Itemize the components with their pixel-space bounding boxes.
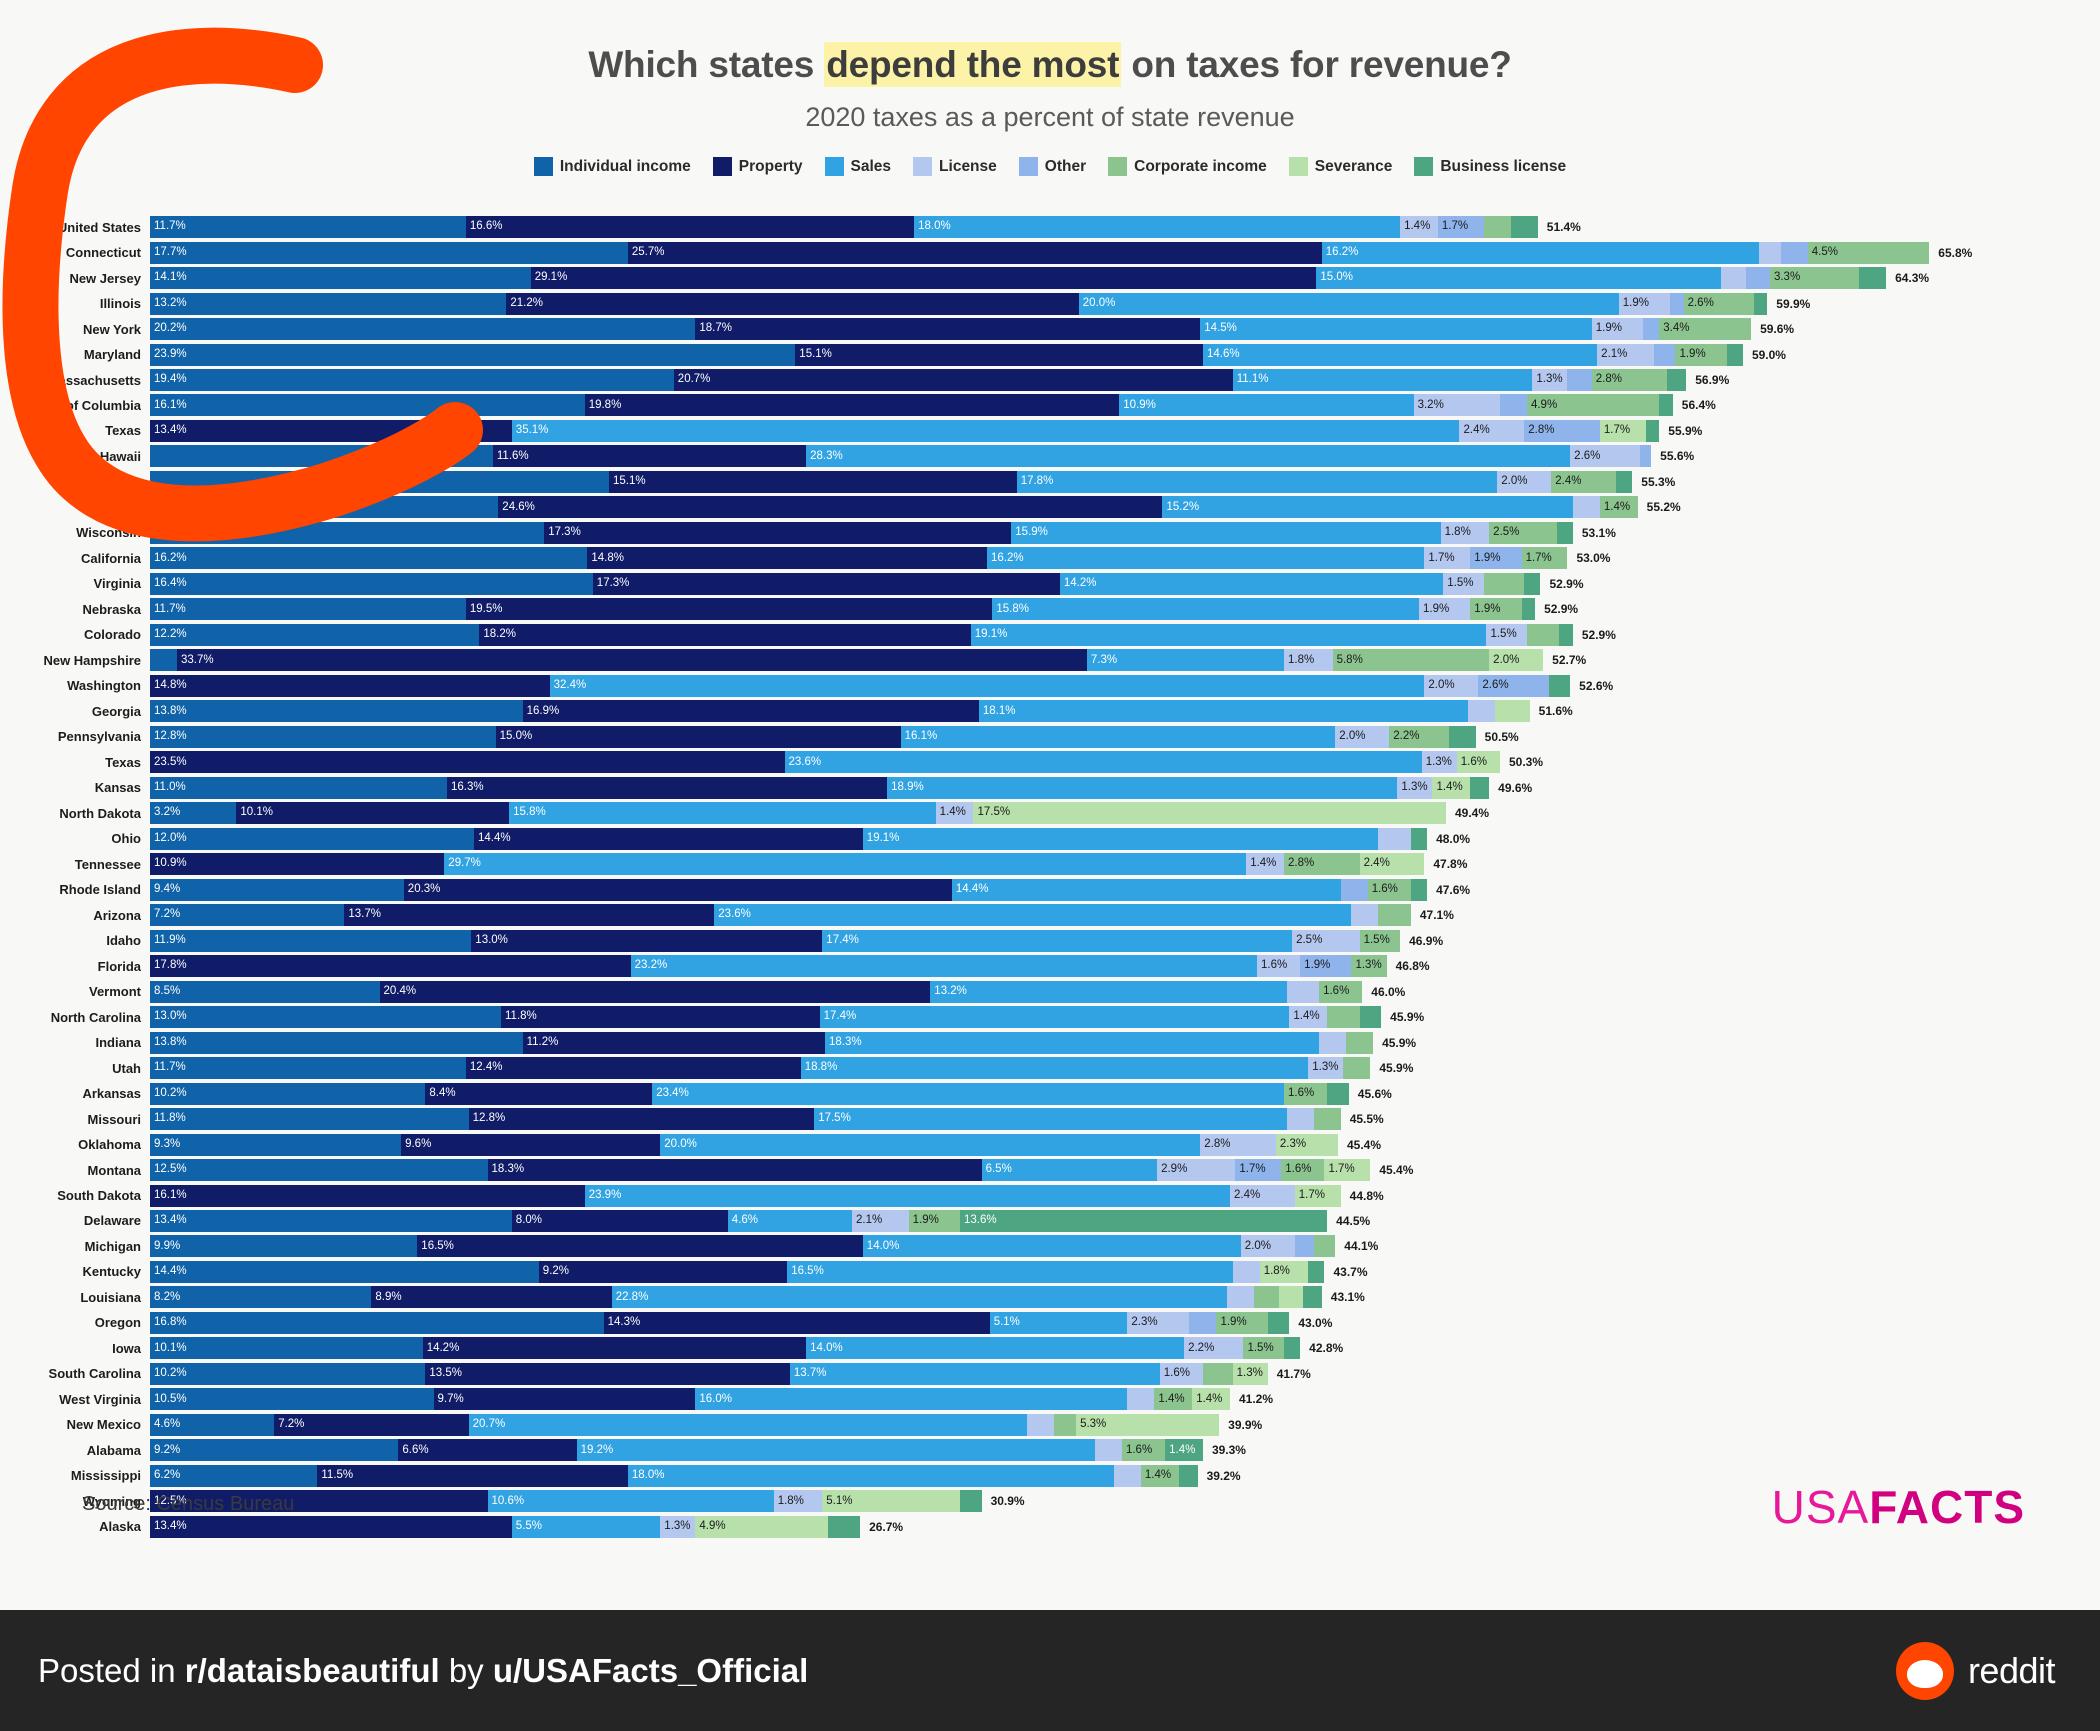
bar-segment-license[interactable] [1721,267,1745,289]
bar-segment-individual-income[interactable]: 14.1% [150,267,531,289]
bar-segment-license[interactable]: 1.6% [1257,955,1300,977]
bar-segment-property[interactable]: 8.0% [512,1210,728,1232]
bar-segment-corporate-income[interactable]: 1.9% [909,1210,960,1232]
bar-segment-property[interactable]: 7.2% [274,1414,468,1436]
bar-segment-business-license[interactable] [960,1490,982,1512]
bar-segment-license[interactable]: 2.4% [1230,1185,1295,1207]
bar-segment-sales[interactable]: 17.8% [1017,471,1498,493]
bar-segment-property[interactable]: 20.3% [404,879,952,901]
chart-row[interactable]: Vermont8.5%20.4%13.2%1.6%46.0% [0,980,2100,1004]
bar-segment-property[interactable]: 14.2% [423,1337,806,1359]
bar-segment-property[interactable]: 9.2% [539,1261,787,1283]
bar-segment-individual-income[interactable]: 16.2% [150,547,587,569]
bar-segment-sales[interactable]: 16.5% [787,1261,1233,1283]
bar-segment-corporate-income[interactable] [1527,624,1559,646]
bar-segment-property[interactable]: 19.5% [466,598,993,620]
bar-segment-severance[interactable]: 2.4% [1360,853,1425,875]
bar-segment-license[interactable]: 2.0% [1497,471,1551,493]
bar-segment-business-license[interactable] [1470,777,1489,799]
bar-segment-license[interactable] [1351,904,1378,926]
bar-segment-property[interactable]: 17.3% [593,573,1060,595]
bar-segment-license[interactable] [1319,1032,1346,1054]
bar-segment-license[interactable]: 1.3% [1532,369,1567,391]
bar-segment-license[interactable]: 1.9% [1619,293,1670,315]
bar-segment-property[interactable]: 12.8% [469,1108,815,1130]
bar-segment-sales[interactable]: 14.2% [1060,573,1443,595]
bar-segment-severance[interactable]: 1.7% [1600,420,1646,442]
chart-row[interactable]: Idaho11.9%13.0%17.4%2.5%1.5%46.9% [0,929,2100,953]
chart-row[interactable]: Indiana13.8%11.2%18.3%45.9% [0,1031,2100,1055]
legend-item-corporate-income[interactable]: Corporate income [1108,157,1267,176]
bar-segment-corporate-income[interactable]: 1.4% [1600,496,1638,518]
bar-segment-business-license[interactable]: 1.4% [1165,1439,1203,1461]
bar-segment-sales[interactable]: 19.1% [971,624,1487,646]
legend-item-sales[interactable]: Sales [825,157,892,176]
bar-segment-individual-income[interactable]: 12.0% [150,828,474,850]
legend-item-property[interactable]: Property [713,157,803,176]
bar-segment-property[interactable]: 16.9% [523,700,979,722]
bar-segment-license[interactable]: 1.5% [1486,624,1527,646]
bar-segment-business-license[interactable] [1667,369,1686,391]
bar-segment-license[interactable]: 1.4% [1400,216,1438,238]
bar-segment-corporate-income[interactable]: 3.3% [1770,267,1859,289]
bar-segment-individual-income[interactable]: 11.8% [150,1108,469,1130]
bar-segment-sales[interactable]: 17.5% [814,1108,1287,1130]
bar-segment-corporate-income[interactable]: 1.6% [1281,1159,1324,1181]
bar-segment-individual-income[interactable]: 4.6% [150,1414,274,1436]
bar-segment-license[interactable]: 2.1% [852,1210,909,1232]
chart-row[interactable]: Arizona7.2%13.7%23.6%47.1% [0,903,2100,927]
chart-row[interactable]: Iowa10.1%14.2%14.0%2.2%1.5%42.8% [0,1336,2100,1360]
bar-segment-corporate-income[interactable]: 2.8% [1592,369,1668,391]
bar-segment-sales[interactable]: 13.2% [930,981,1286,1003]
chart-row[interactable]: Kansas11.0%16.3%18.9%1.3%1.4%49.6% [0,776,2100,800]
bar-segment-property[interactable]: 13.4% [150,420,512,442]
chart-row[interactable]: Connecticut17.7%25.7%16.2%4.5%65.8% [0,240,2100,264]
bar-segment-corporate-income[interactable]: 1.6% [1284,1083,1327,1105]
bar-segment-corporate-income[interactable] [1314,1235,1336,1257]
bar-segment-corporate-income[interactable]: 4.9% [1527,394,1659,416]
bar-segment-sales[interactable]: 10.9% [1119,394,1413,416]
bar-segment-sales[interactable]: 11.1% [1233,369,1533,391]
bar-segment-sales[interactable]: 15.8% [509,802,936,824]
bar-segment-sales[interactable]: 7.3% [1087,649,1284,671]
bar-segment-sales[interactable]: 14.0% [863,1235,1241,1257]
bar-segment-corporate-income[interactable] [1327,1006,1359,1028]
bar-segment-business-license[interactable] [1327,1083,1349,1105]
bar-segment-property[interactable]: 17.8% [150,955,631,977]
bar-segment-license[interactable]: 2.2% [1184,1337,1243,1359]
bar-segment-severance[interactable]: 1.3% [1233,1363,1268,1385]
chart-row[interactable]: Minnesota15.1%17.8%2.0%2.4%55.3% [0,470,2100,494]
bar-segment-individual-income[interactable]: 9.3% [150,1134,401,1156]
bar-segment-sales[interactable]: 23.2% [631,955,1257,977]
bar-segment-individual-income[interactable]: 9.4% [150,879,404,901]
bar-segment-business-license[interactable] [1659,394,1673,416]
chart-row[interactable]: Pennsylvania12.8%15.0%16.1%2.0%2.2%50.5% [0,725,2100,749]
bar-segment-license[interactable] [1287,1108,1314,1130]
bar-segment-license[interactable]: 1.8% [1284,649,1333,671]
bar-segment-corporate-income[interactable] [1203,1363,1233,1385]
bar-segment-sales[interactable]: 10.6% [488,1490,774,1512]
chart-row[interactable]: New Hampshire33.7%7.3%1.8%5.8%2.0%52.7% [0,648,2100,672]
bar-segment-individual-income[interactable]: 9.9% [150,1235,417,1257]
bar-segment-business-license[interactable] [828,1516,860,1538]
bar-segment-sales[interactable]: 23.9% [585,1185,1230,1207]
bar-segment-other[interactable] [1295,1235,1314,1257]
bar-segment-business-license[interactable] [1179,1465,1198,1487]
bar-segment-individual-income[interactable]: 3.2% [150,802,236,824]
bar-segment-business-license[interactable] [1616,471,1632,493]
bar-segment-severance[interactable]: 5.3% [1076,1414,1219,1436]
bar-segment-individual-income[interactable]: 12.5% [150,1159,488,1181]
bar-segment-property[interactable]: 11.5% [317,1465,628,1487]
bar-segment-business-license[interactable] [1549,675,1571,697]
bar-segment-property[interactable]: 8.9% [371,1286,611,1308]
bar-segment-property[interactable]: 14.8% [587,547,987,569]
legend-item-individual-income[interactable]: Individual income [534,157,691,176]
bar-segment-corporate-income[interactable] [1346,1032,1373,1054]
chart-row[interactable]: South Carolina10.2%13.5%13.7%1.6%1.3%41.… [0,1362,2100,1386]
chart-row[interactable]: Kentucky14.4%9.2%16.5%1.8%43.7% [0,1260,2100,1284]
bar-segment-corporate-income[interactable]: 1.3% [1351,955,1386,977]
bar-segment-sales[interactable]: 32.4% [550,675,1425,697]
bar-segment-corporate-income[interactable] [1314,1108,1341,1130]
bar-segment-license[interactable]: 2.0% [1241,1235,1295,1257]
chart-row[interactable]: New Jersey14.1%29.1%15.0%3.3%64.3% [0,266,2100,290]
bar-segment-sales[interactable]: 17.4% [822,930,1292,952]
bar-segment-license[interactable] [1468,700,1495,722]
bar-segment-severance[interactable]: 1.6% [1457,751,1500,773]
bar-segment-sales[interactable]: 15.0% [1316,267,1721,289]
bar-segment-severance[interactable]: 1.4% [1432,777,1470,799]
bar-segment-sales[interactable]: 19.2% [577,1439,1095,1461]
bar-segment-corporate-income[interactable] [1054,1414,1076,1436]
reddit-logo[interactable]: reddit [1896,1642,2055,1700]
bar-segment-individual-income[interactable]: 8.2% [150,1286,371,1308]
bar-segment-other[interactable]: 2.6% [1478,675,1548,697]
chart-row[interactable]: Delaware13.4%8.0%4.6%2.1%1.9%13.6%44.5% [0,1209,2100,1233]
bar-segment-sales[interactable]: 20.7% [469,1414,1028,1436]
chart-row[interactable]: Virginia16.4%17.3%14.2%1.5%52.9% [0,572,2100,596]
bar-segment-property[interactable]: 23.5% [150,751,785,773]
bar-segment-property[interactable]: 18.2% [479,624,970,646]
bar-segment-business-license[interactable] [1284,1337,1300,1359]
bar-segment-sales[interactable]: 6.5% [982,1159,1158,1181]
chart-row[interactable]: Missouri11.8%12.8%17.5%45.5% [0,1107,2100,1131]
bar-segment-sales[interactable]: 18.0% [914,216,1400,238]
bar-segment-property[interactable]: 13.0% [471,930,822,952]
bar-segment-individual-income[interactable] [150,649,177,671]
bar-segment-sales[interactable]: 16.2% [1322,242,1759,264]
bar-segment-other[interactable]: 1.7% [1235,1159,1281,1181]
bar-segment-sales[interactable]: 18.8% [801,1057,1309,1079]
bar-segment-license[interactable]: 1.9% [1419,598,1470,620]
bar-segment-individual-income[interactable]: 13.4% [150,1210,512,1232]
bar-segment-individual-income[interactable]: 19.4% [150,369,674,391]
bar-segment-license[interactable]: 1.3% [1397,777,1432,799]
bar-segment-business-license[interactable] [1303,1286,1322,1308]
bar-segment-property[interactable]: 18.7% [695,318,1200,340]
bar-segment-sales[interactable]: 16.0% [695,1388,1127,1410]
bar-segment-corporate-income[interactable]: 2.4% [1551,471,1616,493]
bar-segment-corporate-income[interactable]: 4.5% [1808,242,1930,264]
bar-segment-property[interactable]: 11.6% [493,445,806,467]
bar-segment-individual-income[interactable] [150,496,498,518]
bar-segment-corporate-income[interactable]: 1.4% [1154,1388,1192,1410]
chart-row[interactable]: Maryland23.9%15.1%14.6%2.1%1.9%59.0% [0,342,2100,366]
bar-segment-property[interactable]: 11.2% [523,1032,825,1054]
bar-segment-sales[interactable]: 18.3% [825,1032,1319,1054]
bar-segment-license[interactable]: 2.0% [1335,726,1389,748]
chart-row[interactable]: Tennessee10.9%29.7%1.4%2.8%2.4%47.8% [0,852,2100,876]
bar-segment-business-license[interactable] [1308,1261,1324,1283]
bar-segment-sales[interactable]: 17.4% [820,1006,1290,1028]
bar-segment-sales[interactable]: 16.2% [987,547,1424,569]
chart-row[interactable]: Texas 23.5%23.6%1.3%1.6%50.3% [0,750,2100,774]
bar-segment-property[interactable]: 13.7% [344,904,714,926]
bar-segment-other[interactable] [1654,344,1676,366]
bar-segment-severance[interactable]: 1.7% [1295,1185,1341,1207]
bar-segment-property[interactable]: 15.1% [795,344,1203,366]
bar-segment-property[interactable]: 33.7% [177,649,1087,671]
bar-segment-business-license[interactable] [1411,828,1427,850]
bar-segment-severance[interactable]: 2.0% [1489,649,1543,671]
bar-segment-sales[interactable]: 5.1% [990,1312,1128,1334]
bar-segment-severance[interactable]: 4.9% [695,1516,827,1538]
bar-segment-property[interactable]: 12.4% [466,1057,801,1079]
bar-segment-property[interactable]: 16.3% [447,777,887,799]
bar-segment-property[interactable]: 10.1% [236,802,509,824]
bar-segment-other[interactable] [1746,267,1770,289]
bar-segment-license[interactable]: 2.9% [1157,1159,1235,1181]
bar-segment-severance[interactable] [1495,700,1530,722]
bar-segment-business-license[interactable] [1449,726,1476,748]
bar-segment-corporate-income[interactable]: 1.5% [1243,1337,1284,1359]
bar-segment-corporate-income[interactable]: 2.8% [1284,853,1360,875]
bar-segment-business-license[interactable]: 13.6% [960,1210,1327,1232]
bar-segment-individual-income[interactable]: 6.2% [150,1465,317,1487]
bar-segment-license[interactable] [1759,242,1781,264]
bar-segment-corporate-income[interactable]: 5.8% [1333,649,1490,671]
bar-segment-individual-income[interactable]: 12.8% [150,726,496,748]
bar-segment-sales[interactable]: 4.6% [728,1210,852,1232]
bar-segment-business-license[interactable] [1511,216,1538,238]
bar-segment-sales[interactable]: 28.3% [806,445,1570,467]
bar-segment-property[interactable]: 6.6% [398,1439,576,1461]
chart-row[interactable]: North Carolina13.0%11.8%17.4%1.4%45.9% [0,1005,2100,1029]
bar-segment-individual-income[interactable]: 11.7% [150,1057,466,1079]
legend-item-license[interactable]: License [913,157,997,176]
bar-segment-property[interactable]: 17.3% [544,522,1011,544]
chart-row[interactable]: Nebraska11.7%19.5%15.8%1.9%1.9%52.9% [0,597,2100,621]
bar-segment-corporate-income[interactable]: 2.2% [1389,726,1448,748]
bar-segment-license[interactable]: 1.4% [1246,853,1284,875]
bar-segment-property[interactable]: 9.6% [401,1134,660,1156]
bar-segment-property[interactable]: 9.7% [434,1388,696,1410]
bar-segment-corporate-income[interactable]: 1.6% [1319,981,1362,1003]
bar-segment-property[interactable]: 24.6% [498,496,1162,518]
chart-row[interactable]: Georgia13.8%16.9%18.1%51.6% [0,699,2100,723]
chart-row[interactable]: Illinois13.2%21.2%20.0%1.9%2.6%59.9% [0,291,2100,315]
bar-segment-license[interactable]: 1.9% [1592,318,1643,340]
chart-row[interactable]: Michigan9.9%16.5%14.0%2.0%44.1% [0,1234,2100,1258]
chart-row[interactable]: Arkansas10.2%8.4%23.4%1.6%45.6% [0,1081,2100,1105]
chart-row[interactable]: Washington14.8%32.4%2.0%2.6%52.6% [0,674,2100,698]
bar-segment-individual-income[interactable]: 13.0% [150,1006,501,1028]
chart-row[interactable]: Ohio12.0%14.4%19.1%48.0% [0,827,2100,851]
bar-segment-individual-income[interactable]: 17.7% [150,242,628,264]
bar-segment-sales[interactable]: 5.5% [512,1516,661,1538]
bar-segment-other[interactable]: 2.8% [1524,420,1600,442]
bar-segment-other[interactable] [1341,879,1368,901]
bar-segment-individual-income[interactable]: 7.2% [150,904,344,926]
bar-segment-property[interactable]: 14.8% [150,675,550,697]
bar-segment-individual-income[interactable]: 12.2% [150,624,479,646]
bar-segment-sales[interactable]: 14.4% [952,879,1341,901]
chart-row[interactable]: Hawaii11.6%28.3%2.6%55.6% [0,444,2100,468]
bar-segment-license[interactable] [1227,1286,1254,1308]
chart-row[interactable]: Alabama9.2%6.6%19.2%1.6%1.4%39.3% [0,1438,2100,1462]
bar-segment-license[interactable] [1233,1261,1260,1283]
bar-segment-sales[interactable]: 14.0% [806,1337,1184,1359]
bar-segment-individual-income[interactable]: 10.5% [150,1388,434,1410]
bar-segment-individual-income[interactable]: 10.2% [150,1083,425,1105]
bar-segment-property[interactable]: 10.9% [150,853,444,875]
bar-segment-license[interactable]: 1.3% [1308,1057,1343,1079]
bar-segment-sales[interactable]: 15.8% [992,598,1419,620]
bar-segment-individual-income[interactable]: 8.5% [150,981,380,1003]
bar-segment-other[interactable]: 1.9% [1300,955,1351,977]
bar-segment-severance[interactable]: 1.8% [1260,1261,1309,1283]
bar-segment-other[interactable] [1640,445,1651,467]
bar-segment-license[interactable]: 1.7% [1424,547,1470,569]
chart-row[interactable]: Massachusetts19.4%20.7%11.1%1.3%2.8%56.9… [0,368,2100,392]
bar-segment-severance[interactable] [1279,1286,1303,1308]
bar-segment-license[interactable]: 1.8% [1441,522,1490,544]
bar-segment-corporate-income[interactable]: 1.9% [1470,598,1521,620]
bar-segment-corporate-income[interactable] [1484,216,1511,238]
chart-row[interactable]: District of Columbia16.1%19.8%10.9%3.2%4… [0,393,2100,417]
chart-row[interactable]: New Mexico4.6%7.2%20.7%5.3%39.9% [0,1413,2100,1437]
chart-row[interactable]: Wisconsin14.6%17.3%15.9%1.8%2.5%53.1% [0,521,2100,545]
bar-segment-individual-income[interactable]: 23.9% [150,344,795,366]
bar-segment-individual-income[interactable] [150,445,493,467]
bar-segment-individual-income[interactable]: 13.8% [150,1032,523,1054]
chart-row[interactable]: Montana12.5%18.3%6.5%2.9%1.7%1.6%1.7%45.… [0,1158,2100,1182]
bar-segment-corporate-income[interactable] [1484,573,1525,595]
bar-segment-individual-income[interactable]: 9.2% [150,1439,398,1461]
bar-segment-license[interactable] [1127,1388,1154,1410]
bar-segment-property[interactable]: 13.5% [425,1363,790,1385]
bar-segment-business-license[interactable] [1268,1312,1290,1334]
bar-segment-sales[interactable]: 23.4% [652,1083,1284,1105]
bar-segment-individual-income[interactable]: 16.1% [150,394,585,416]
bar-segment-other[interactable] [1189,1312,1216,1334]
bar-segment-property[interactable]: 11.8% [501,1006,820,1028]
bar-segment-individual-income[interactable]: 16.8% [150,1312,604,1334]
bar-segment-other[interactable]: 1.9% [1470,547,1521,569]
bar-segment-corporate-income[interactable]: 1.6% [1368,879,1411,901]
bar-segment-corporate-income[interactable]: 1.9% [1675,344,1726,366]
bar-segment-severance[interactable]: 2.3% [1276,1134,1338,1156]
bar-segment-property[interactable]: 15.1% [609,471,1017,493]
bar-segment-property[interactable]: 13.4% [150,1516,512,1538]
bar-segment-sales[interactable]: 14.6% [1203,344,1597,366]
bar-segment-property[interactable]: 14.3% [604,1312,990,1334]
bar-segment-property[interactable]: 19.8% [585,394,1120,416]
bar-segment-license[interactable]: 2.1% [1597,344,1654,366]
legend-item-other[interactable]: Other [1019,157,1086,176]
bar-segment-license[interactable]: 2.3% [1127,1312,1189,1334]
bar-segment-license[interactable]: 1.3% [1422,751,1457,773]
bar-segment-license[interactable]: 1.6% [1160,1363,1203,1385]
chart-row[interactable]: Utah11.7%12.4%18.8%1.3%45.9% [0,1056,2100,1080]
bar-segment-corporate-income[interactable] [1343,1057,1370,1079]
bar-segment-corporate-income[interactable]: 1.4% [1141,1465,1179,1487]
legend-item-severance[interactable]: Severance [1289,157,1393,176]
chart-row[interactable]: New York20.2%18.7%14.5%1.9%3.4%59.6% [0,317,2100,341]
bar-segment-corporate-income[interactable] [1254,1286,1278,1308]
bar-segment-other[interactable] [1670,293,1684,315]
bar-segment-corporate-income[interactable]: 1.7% [1522,547,1568,569]
bar-segment-severance[interactable]: 17.5% [973,802,1446,824]
bar-segment-property[interactable]: 14.4% [474,828,863,850]
bar-segment-corporate-income[interactable]: 1.9% [1216,1312,1267,1334]
bar-segment-individual-income[interactable]: 14.6% [150,522,544,544]
chart-row[interactable]: South Dakota16.1%23.9%2.4%1.7%44.8% [0,1183,2100,1207]
bar-segment-sales[interactable]: 18.0% [628,1465,1114,1487]
bar-segment-sales[interactable]: 15.9% [1011,522,1440,544]
chart-row[interactable]: Rhode Island9.4%20.3%14.4%1.6%47.6% [0,878,2100,902]
bar-segment-license[interactable]: 2.0% [1424,675,1478,697]
bar-segment-property[interactable]: 15.0% [496,726,901,748]
bar-segment-sales[interactable]: 15.2% [1162,496,1572,518]
bar-segment-other[interactable] [1567,369,1591,391]
bar-segment-individual-income[interactable]: 10.2% [150,1363,425,1385]
bar-segment-business-license[interactable] [1524,573,1540,595]
chart-row[interactable]: Louisiana8.2%8.9%22.8%43.1% [0,1285,2100,1309]
bar-segment-business-license[interactable] [1859,267,1886,289]
bar-segment-corporate-income[interactable]: 3.4% [1659,318,1751,340]
bar-segment-license[interactable] [1027,1414,1054,1436]
bar-segment-sales[interactable]: 19.1% [863,828,1379,850]
chart-row[interactable]: West Virginia10.5%9.7%16.0%1.4%1.4%41.2% [0,1387,2100,1411]
bar-segment-business-license[interactable] [1411,879,1427,901]
bar-segment-sales[interactable]: 20.0% [1079,293,1619,315]
chart-row[interactable]: Oklahoma9.3%9.6%20.0%2.8%2.3%45.4% [0,1132,2100,1156]
bar-segment-license[interactable]: 2.6% [1570,445,1640,467]
bar-segment-sales[interactable]: 14.5% [1200,318,1592,340]
bar-segment-individual-income[interactable]: 11.9% [150,930,471,952]
bar-segment-sales[interactable]: 22.8% [612,1286,1228,1308]
chart-row[interactable]: Oregon16.8%14.3%5.1%2.3%1.9%43.0% [0,1311,2100,1335]
bar-segment-sales[interactable]: 13.7% [790,1363,1160,1385]
bar-segment-license[interactable]: 1.4% [936,802,974,824]
bar-segment-business-license[interactable] [1559,624,1573,646]
bar-segment-business-license[interactable] [1557,522,1573,544]
bar-segment-sales[interactable]: 23.6% [714,904,1351,926]
bar-segment-business-license[interactable] [1646,420,1660,442]
bar-segment-license[interactable]: 2.4% [1459,420,1524,442]
chart-row[interactable]: Maine24.6%15.2%1.4%55.2% [0,495,2100,519]
bar-segment-property[interactable]: 18.3% [488,1159,982,1181]
bar-segment-individual-income[interactable]: 11.0% [150,777,447,799]
reddit-username[interactable]: u/USAFacts_Official [493,1652,808,1689]
bar-segment-license[interactable]: 1.5% [1443,573,1484,595]
subreddit-name[interactable]: r/dataisbeautiful [185,1652,440,1689]
chart-row[interactable]: United States11.7%16.6%18.0%1.4%1.7%51.4… [0,215,2100,239]
